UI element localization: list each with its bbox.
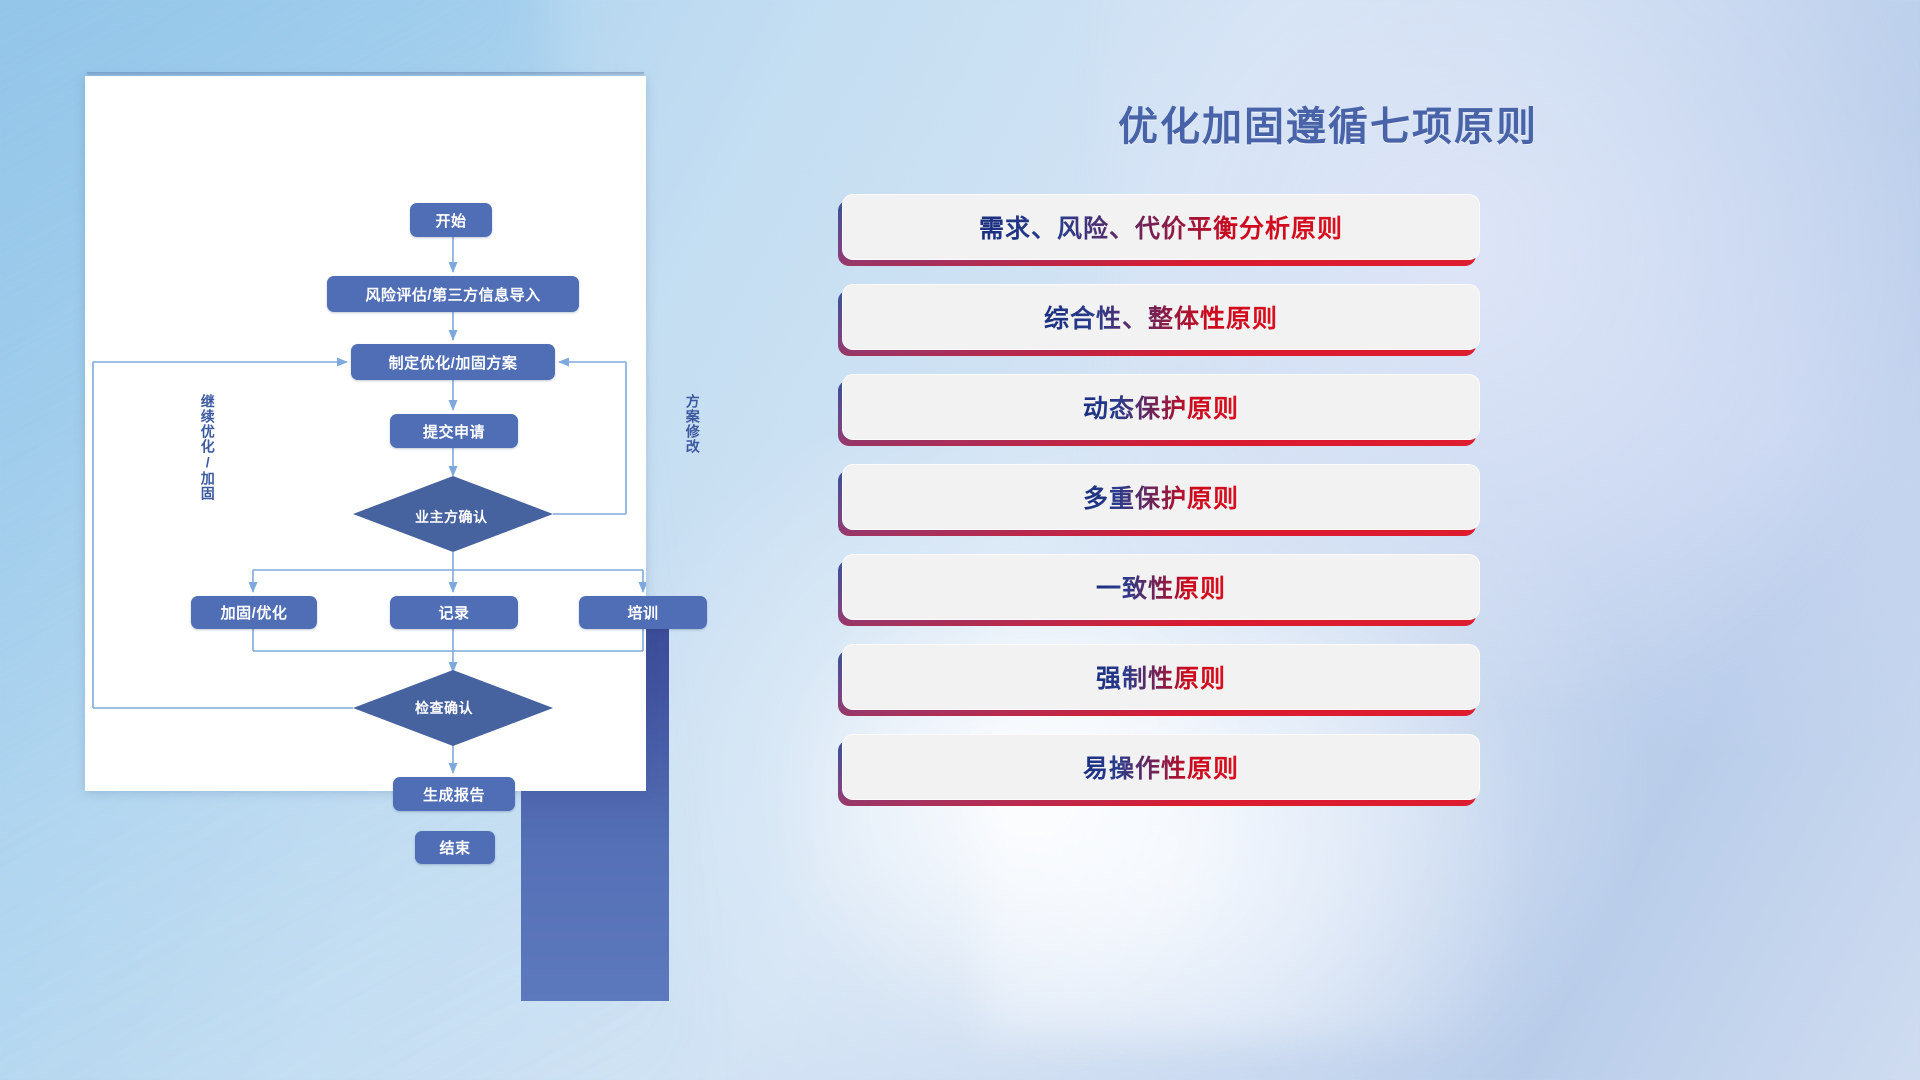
flow-node-end[interactable]: 结束 — [415, 831, 495, 864]
flow-node-submit-application[interactable]: 提交申请 — [390, 414, 518, 448]
decision-owner-confirm — [353, 476, 553, 552]
principle-label: 动态保护原则 — [1083, 389, 1239, 425]
flowchart-connectors — [85, 76, 646, 791]
flow-node-reinforce-optimize[interactable]: 加固/优化 — [191, 596, 317, 629]
flowchart-panel: 开始 风险评估/第三方信息导入 制定优化/加固方案 提交申请 加固/优化 记录 … — [85, 76, 646, 791]
flow-node-generate-report[interactable]: 生成报告 — [393, 777, 515, 811]
principles-panel: 优化加固遵循七项原则 需求、风险、代价平衡分析原则 综合性、整体性原则 动态保护… — [838, 76, 1818, 1016]
principle-item[interactable]: 需求、风险、代价平衡分析原则 — [838, 194, 1818, 264]
principle-label: 多重保护原则 — [1083, 479, 1239, 515]
principle-item[interactable]: 多重保护原则 — [838, 464, 1818, 534]
principle-card[interactable]: 强制性原则 — [842, 644, 1480, 710]
principle-label: 综合性、整体性原则 — [1044, 299, 1278, 335]
flow-node-record[interactable]: 记录 — [390, 596, 518, 629]
principle-label: 一致性原则 — [1096, 569, 1226, 605]
principle-card[interactable]: 综合性、整体性原则 — [842, 284, 1480, 350]
principle-card[interactable]: 动态保护原则 — [842, 374, 1480, 440]
page-title: 优化加固遵循七项原则 — [838, 94, 1818, 152]
flow-edge-label-continue-optimize: 继续优化/加固 — [200, 394, 215, 501]
principle-label: 易操作性原则 — [1083, 749, 1239, 785]
flow-node-make-plan[interactable]: 制定优化/加固方案 — [351, 344, 555, 380]
flow-edge-label-plan-revision: 方案修改 — [685, 394, 700, 454]
principle-card[interactable]: 易操作性原则 — [842, 734, 1480, 800]
principle-item[interactable]: 一致性原则 — [838, 554, 1818, 624]
flow-node-risk-assessment[interactable]: 风险评估/第三方信息导入 — [327, 276, 579, 312]
flow-node-training[interactable]: 培训 — [579, 596, 707, 629]
principle-item[interactable]: 综合性、整体性原则 — [838, 284, 1818, 354]
flow-node-start[interactable]: 开始 — [410, 203, 492, 237]
principle-item[interactable]: 易操作性原则 — [838, 734, 1818, 804]
principle-card[interactable]: 多重保护原则 — [842, 464, 1480, 530]
principles-list: 需求、风险、代价平衡分析原则 综合性、整体性原则 动态保护原则 多重保护原则 一 — [838, 194, 1818, 824]
principle-label: 需求、风险、代价平衡分析原则 — [979, 209, 1343, 245]
principle-card[interactable]: 需求、风险、代价平衡分析原则 — [842, 194, 1480, 260]
principle-label: 强制性原则 — [1096, 659, 1226, 695]
principle-item[interactable]: 强制性原则 — [838, 644, 1818, 714]
decision-check-confirm — [353, 670, 553, 746]
principle-card[interactable]: 一致性原则 — [842, 554, 1480, 620]
principle-item[interactable]: 动态保护原则 — [838, 374, 1818, 444]
